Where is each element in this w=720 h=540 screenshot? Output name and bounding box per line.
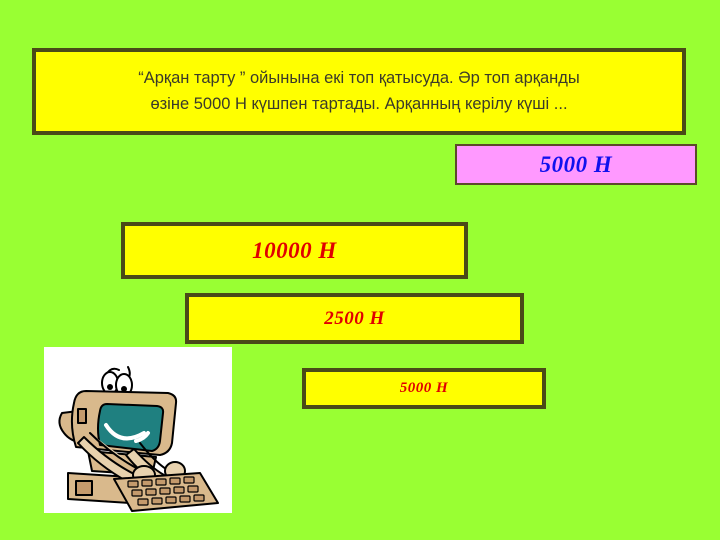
answer-option-a-label: 5000 Н — [540, 152, 613, 178]
slide-canvas: “Арқан тарту ” ойынына екі топ қатысуда.… — [0, 0, 720, 540]
answer-option-b-label: 10000 Н — [252, 238, 337, 264]
question-box: “Арқан тарту ” ойынына екі топ қатысуда.… — [32, 48, 686, 135]
question-text: “Арқан тарту ” ойынына екі топ қатысуда.… — [138, 66, 580, 117]
answer-option-d[interactable]: 5000 Н — [302, 368, 546, 409]
answer-option-c[interactable]: 2500 Н — [185, 293, 524, 344]
clipart-panel — [44, 347, 232, 513]
answer-option-b[interactable]: 10000 Н — [121, 222, 468, 279]
answer-option-a[interactable]: 5000 Н — [455, 144, 697, 185]
answer-option-c-label: 2500 Н — [324, 308, 385, 330]
answer-option-d-label: 5000 Н — [400, 380, 448, 397]
cartoon-computer-icon — [44, 347, 232, 513]
